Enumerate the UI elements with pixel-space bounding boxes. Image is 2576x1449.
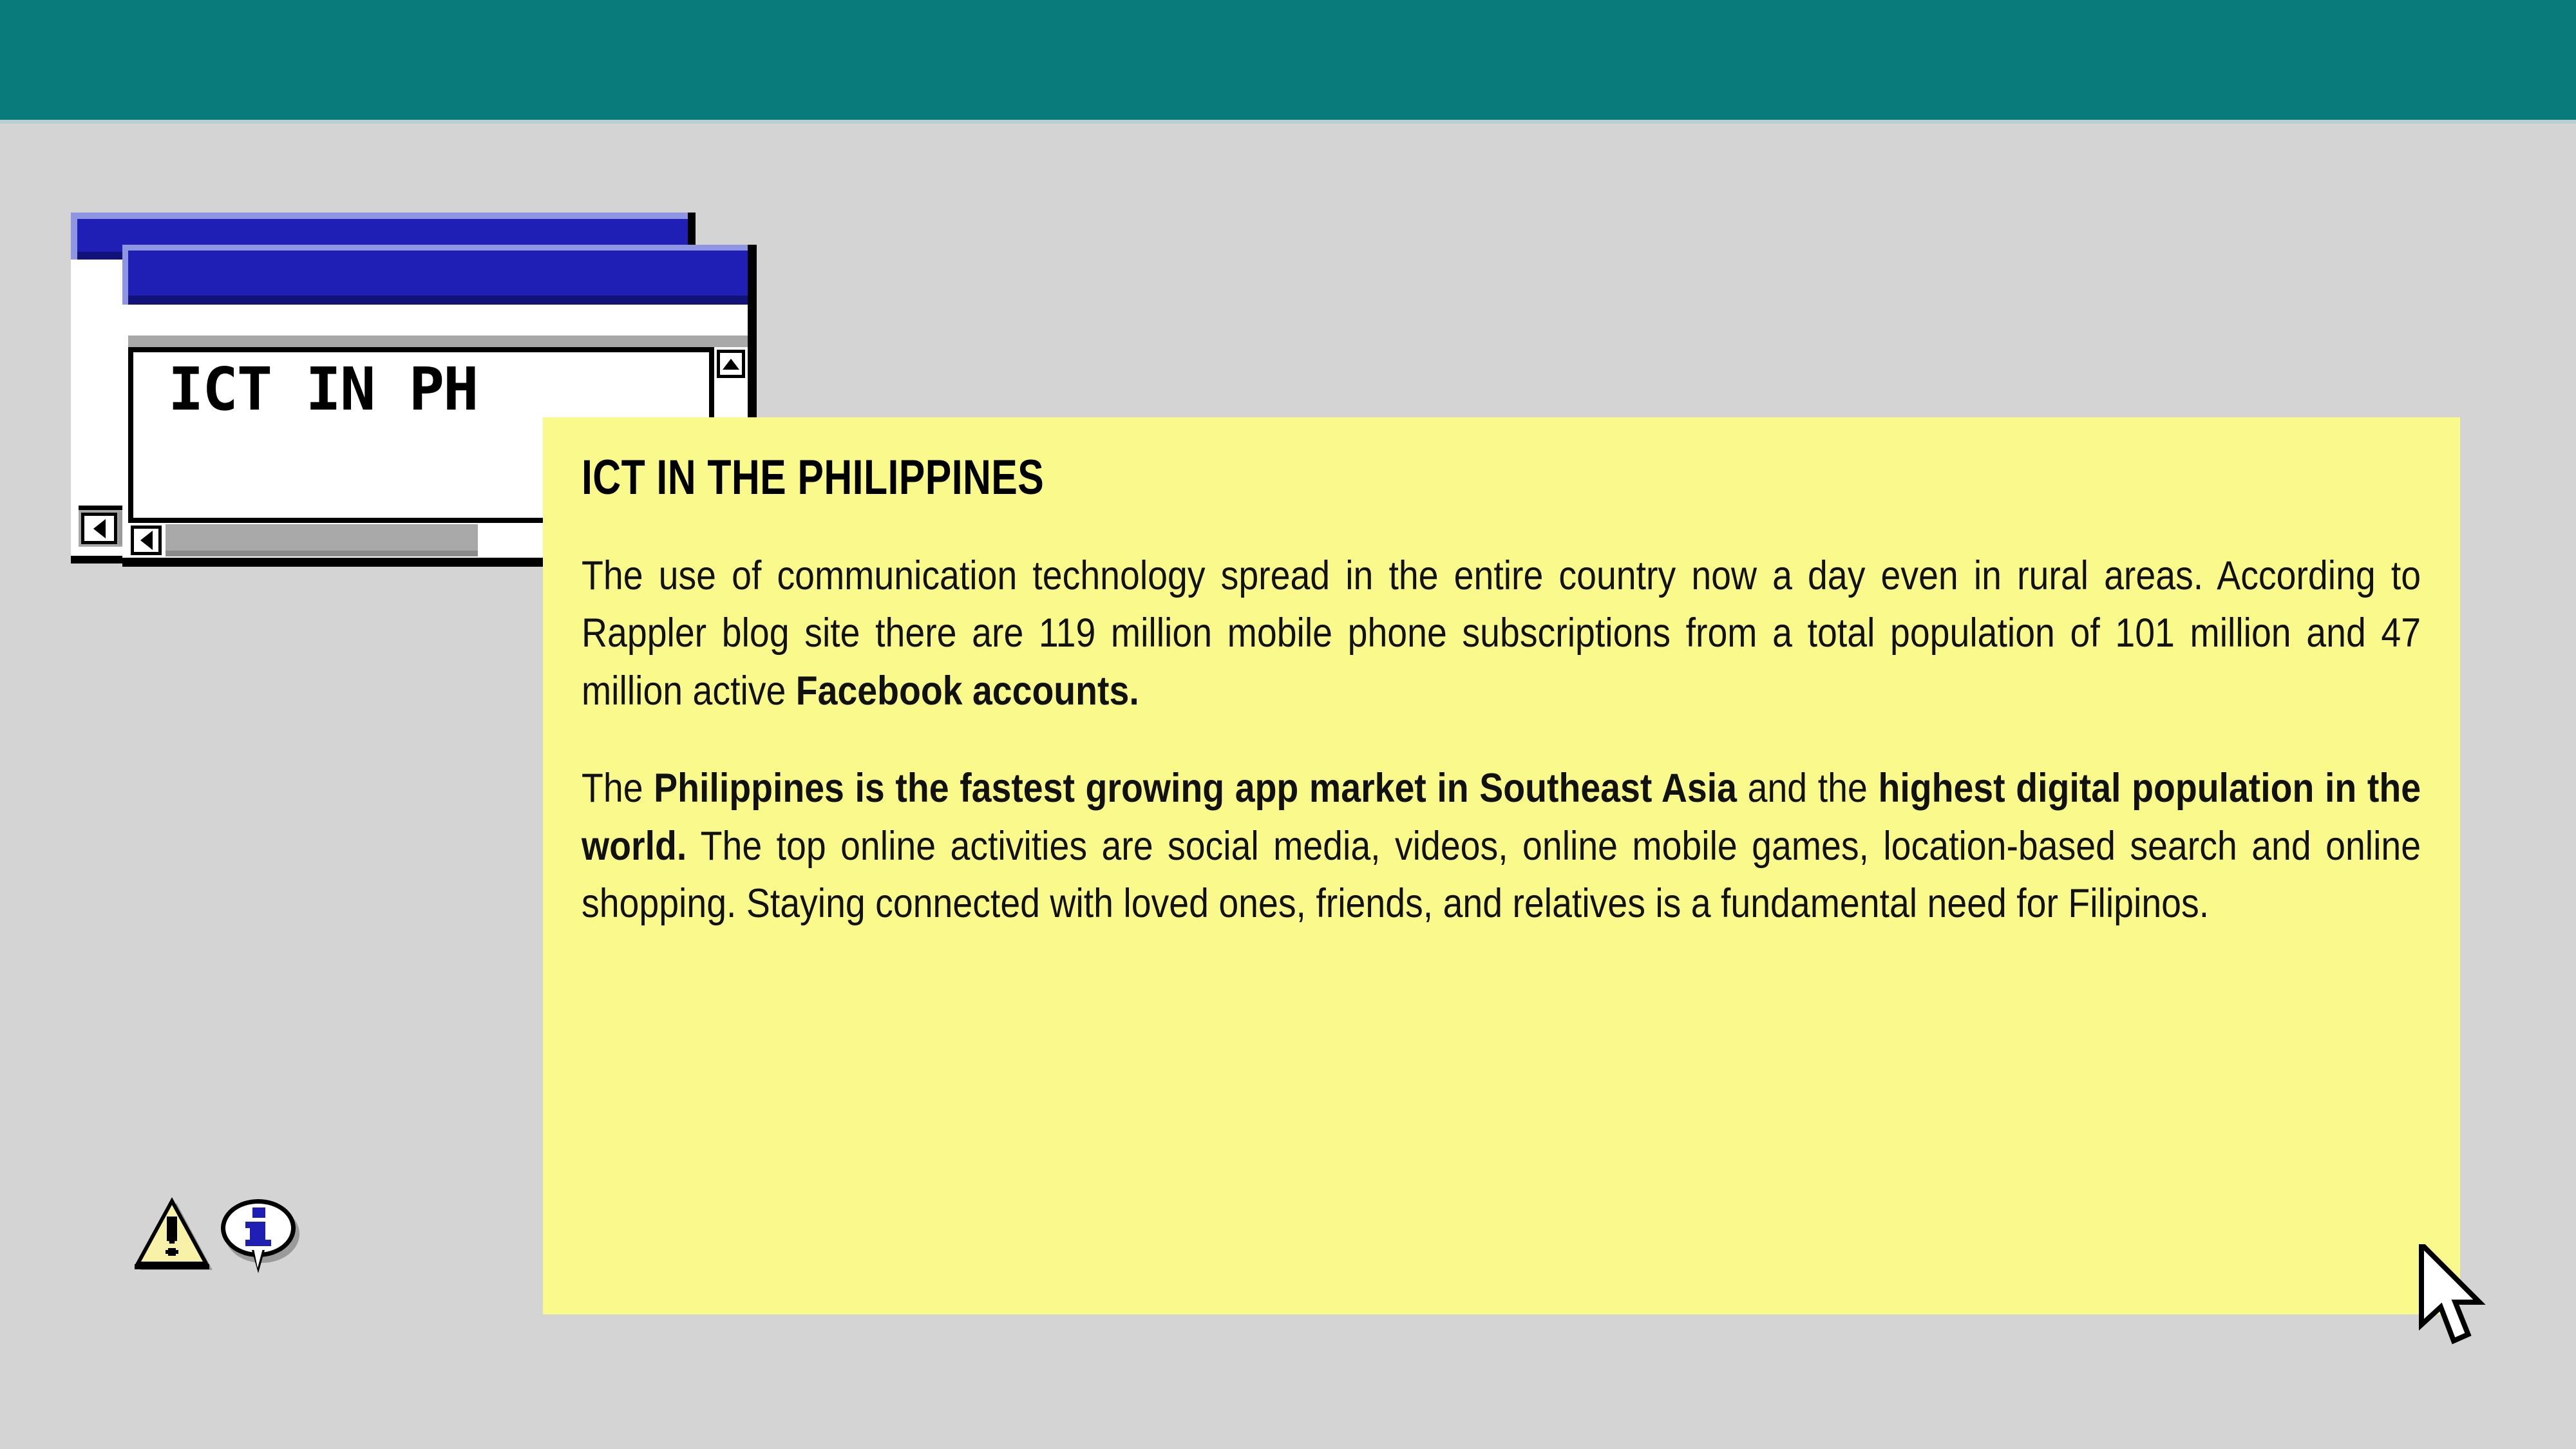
note-panel: ICT IN THE PHILIPPINES The use of commun…	[543, 417, 2460, 1314]
note-title: ICT IN THE PHILIPPINES	[582, 452, 2054, 504]
note-text-plain: and the	[1737, 766, 1878, 811]
triangle-left-icon	[93, 519, 106, 538]
scroll-left-button[interactable]	[131, 526, 162, 555]
document-heading-text: ICT IN PH	[168, 360, 478, 419]
note-text-plain: The	[582, 766, 654, 811]
info-icon	[221, 1199, 299, 1273]
window-front-menu-strip[interactable]	[122, 305, 748, 336]
window-front-titlebar[interactable]	[122, 245, 748, 305]
window-front-tool-strip[interactable]	[128, 336, 748, 347]
scrollbar-thumb[interactable]	[166, 524, 478, 556]
note-paragraph-2: The Philippines is the fastest growing a…	[582, 760, 2421, 933]
top-header-band	[0, 0, 2576, 120]
note-text-plain: The top online activities are social med…	[582, 824, 2421, 926]
scroll-left-button[interactable]	[81, 513, 117, 544]
scroll-up-button[interactable]	[717, 350, 745, 378]
triangle-up-icon	[723, 359, 739, 370]
triangle-left-icon	[140, 531, 153, 550]
desktop-icon-tray	[132, 1188, 338, 1282]
desktop-icons-svg	[132, 1188, 338, 1282]
warning-icon	[135, 1197, 213, 1270]
note-text-bold: Facebook accounts.	[796, 668, 1139, 714]
window-front-titlebar-fill	[128, 251, 748, 305]
note-paragraph-1: The use of communication technology spre…	[582, 547, 2421, 720]
note-text-bold: Philippines is the fastest growing app m…	[654, 766, 1737, 811]
